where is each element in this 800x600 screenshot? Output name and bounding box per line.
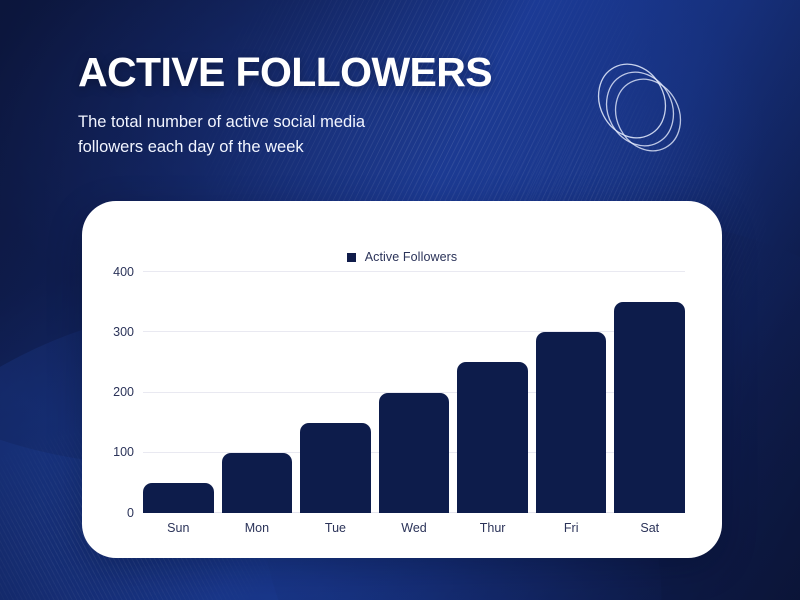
- x-axis-label: Thur: [457, 521, 528, 535]
- bar-slot: [379, 272, 450, 513]
- bar-slot: [143, 272, 214, 513]
- page-subtitle: The total number of active social media …: [78, 110, 418, 160]
- bar[interactable]: [536, 332, 607, 513]
- bar-slot: [614, 272, 685, 513]
- bar-slot: [300, 272, 371, 513]
- bar[interactable]: [143, 483, 214, 513]
- header: ACTIVE FOLLOWERS The total number of act…: [78, 52, 598, 160]
- bar[interactable]: [379, 393, 450, 514]
- y-axis-tick-label: 300: [113, 325, 134, 339]
- bar[interactable]: [222, 453, 293, 513]
- x-axis-label: Wed: [379, 521, 450, 535]
- slide-canvas: ACTIVE FOLLOWERS The total number of act…: [0, 0, 800, 600]
- bar[interactable]: [614, 302, 685, 513]
- legend-label: Active Followers: [365, 250, 458, 264]
- x-axis-label: Sun: [143, 521, 214, 535]
- bars-layer: [143, 272, 685, 513]
- bar-slot: [222, 272, 293, 513]
- x-axis-label: Sat: [614, 521, 685, 535]
- legend-swatch-icon: [347, 253, 356, 262]
- bar-slot: [536, 272, 607, 513]
- y-axis-tick-label: 100: [113, 445, 134, 459]
- chart-legend: Active Followers: [82, 250, 722, 264]
- y-axis-tick-label: 200: [113, 385, 134, 399]
- y-axis-tick-label: 400: [113, 265, 134, 279]
- y-axis-tick-label: 0: [127, 506, 134, 520]
- x-axis-label: Fri: [536, 521, 607, 535]
- x-axis-label: Mon: [222, 521, 293, 535]
- x-axis-label: Tue: [300, 521, 371, 535]
- bar-chart-plot: 0100200300400 SunMonTueWedThurFriSat: [143, 272, 685, 513]
- bar[interactable]: [300, 423, 371, 513]
- x-axis-labels: SunMonTueWedThurFriSat: [143, 521, 685, 535]
- chart-card: Active Followers 0100200300400 SunMonTue…: [82, 201, 722, 558]
- bar[interactable]: [457, 362, 528, 513]
- bar-slot: [457, 272, 528, 513]
- page-title: ACTIVE FOLLOWERS: [78, 52, 598, 94]
